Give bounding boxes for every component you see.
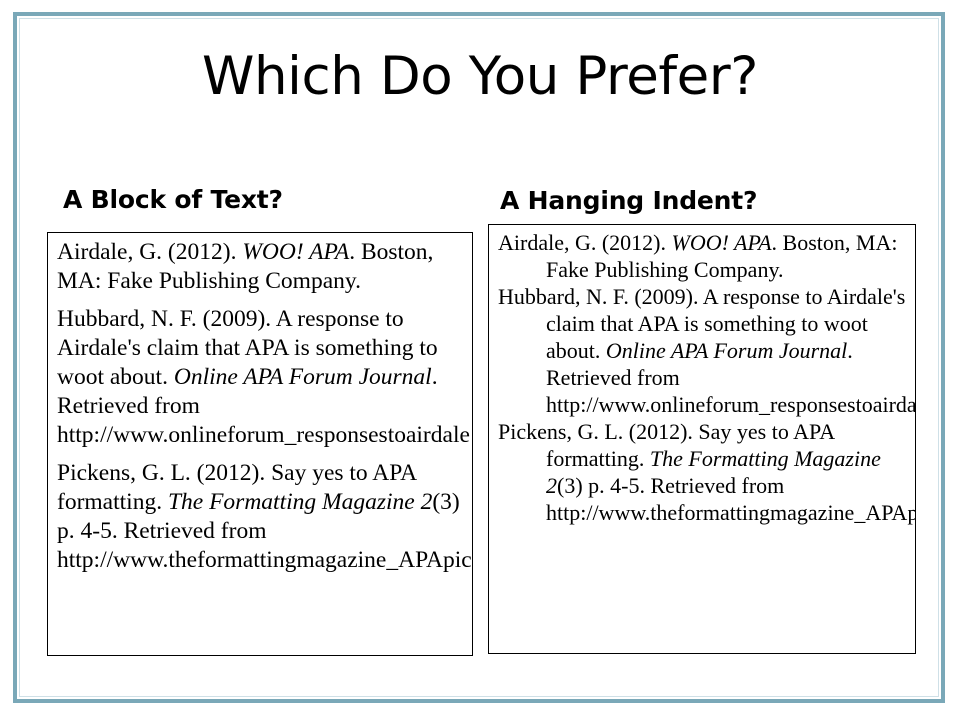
citation-text-run: (3) p. 4-5. Retrieved from http://www.th… [546, 473, 916, 525]
left-column-heading: A Block of Text? [63, 185, 283, 215]
citation-entry: Hubbard, N. F. (2009). A response to Air… [57, 305, 464, 450]
citation-text-run: Airdale, G. (2012). [498, 230, 672, 255]
citation-italic-run: Online APA Forum Journal [174, 364, 432, 390]
slide-canvas: Which Do You Prefer? A Block of Text? A … [0, 0, 960, 720]
citation-entry: Pickens, G. L. (2012). Say yes to APA fo… [57, 459, 464, 575]
right-column-heading: A Hanging Indent? [500, 186, 757, 216]
citation-entry: Hubbard, N. F. (2009). A response to Air… [498, 283, 907, 418]
citation-italic-run: Online APA Forum Journal [606, 338, 847, 363]
citation-italic-run: WOO! APA [242, 239, 349, 265]
citation-text-run: Airdale, G. (2012). [57, 239, 242, 265]
citation-italic-run: WOO! APA [672, 230, 772, 255]
citation-entry: Airdale, G. (2012). WOO! APA. Boston, MA… [498, 229, 907, 283]
citation-entry: Airdale, G. (2012). WOO! APA. Boston, MA… [57, 238, 464, 296]
page-title: Which Do You Prefer? [40, 48, 920, 106]
hanging-indent-citation-box: Airdale, G. (2012). WOO! APA. Boston, MA… [488, 224, 916, 654]
citation-entry: Pickens, G. L. (2012). Say yes to APA fo… [498, 418, 907, 526]
block-of-text-citation-box: Airdale, G. (2012). WOO! APA. Boston, MA… [47, 232, 473, 656]
citation-italic-run: The Formatting Magazine 2 [168, 489, 432, 515]
